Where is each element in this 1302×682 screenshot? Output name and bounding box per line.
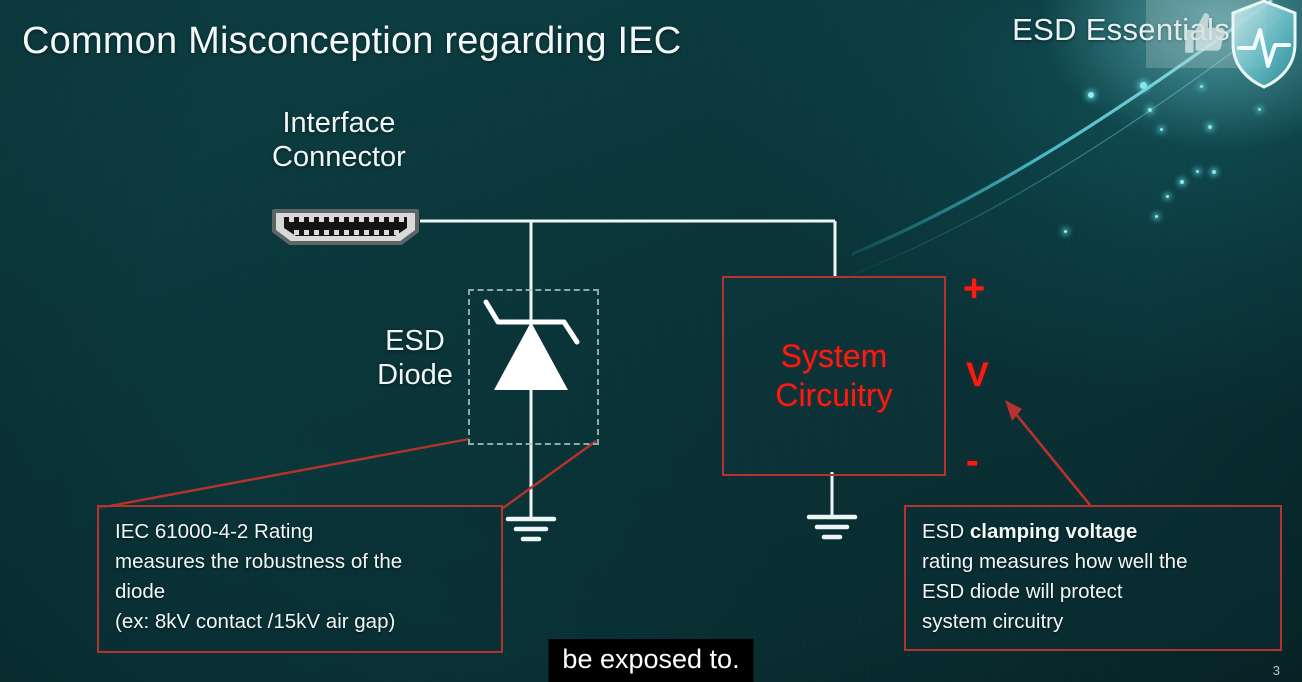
system-block-line2: Circuitry xyxy=(775,377,892,413)
callout-right-line1-prefix: ESD xyxy=(922,520,970,543)
system-block-line1: System xyxy=(781,338,888,374)
video-caption: be exposed to. xyxy=(548,639,753,682)
polarity-voltage-label: V xyxy=(966,356,989,395)
polarity-plus-label: + xyxy=(963,268,985,311)
page-number: 3 xyxy=(1273,663,1280,678)
callout-left-line1: IEC 61000-4-2 Rating xyxy=(115,517,487,547)
esd-diode-dashed-region xyxy=(468,289,599,445)
callout-left-line3: diode xyxy=(115,577,487,607)
callout-right-line2: rating measures how well the xyxy=(922,547,1266,577)
connector-label-line1: Interface xyxy=(272,106,406,140)
system-circuitry-block: System Circuitry xyxy=(722,276,946,476)
callout-right-line1: ESD clamping voltage xyxy=(922,517,1266,547)
page-title: Common Misconception regarding IEC xyxy=(22,20,681,63)
slide-canvas: Common Misconception regarding IEC ESD E… xyxy=(0,0,1302,682)
callout-right-line4: system circuitry xyxy=(922,607,1266,637)
esd-label-line2: Diode xyxy=(360,358,470,392)
connector-label-line2: Connector xyxy=(272,140,406,174)
polarity-minus-label: - xyxy=(966,440,979,483)
hdmi-connector-icon xyxy=(268,205,423,249)
callout-left-line4: (ex: 8kV contact /15kV air gap) xyxy=(115,607,487,637)
shield-pulse-logo xyxy=(1228,0,1300,90)
esd-diode-label: ESD Diode xyxy=(360,324,470,392)
callout-right: ESD clamping voltage rating measures how… xyxy=(904,505,1282,651)
callout-left: IEC 61000-4-2 Rating measures the robust… xyxy=(97,505,503,653)
callout-right-line1-bold: clamping voltage xyxy=(970,520,1137,543)
esd-label-line1: ESD xyxy=(360,324,470,358)
interface-connector-label: Interface Connector xyxy=(272,106,406,174)
callout-left-line2: measures the robustness of the xyxy=(115,547,487,577)
callout-right-line3: ESD diode will protect xyxy=(922,577,1266,607)
